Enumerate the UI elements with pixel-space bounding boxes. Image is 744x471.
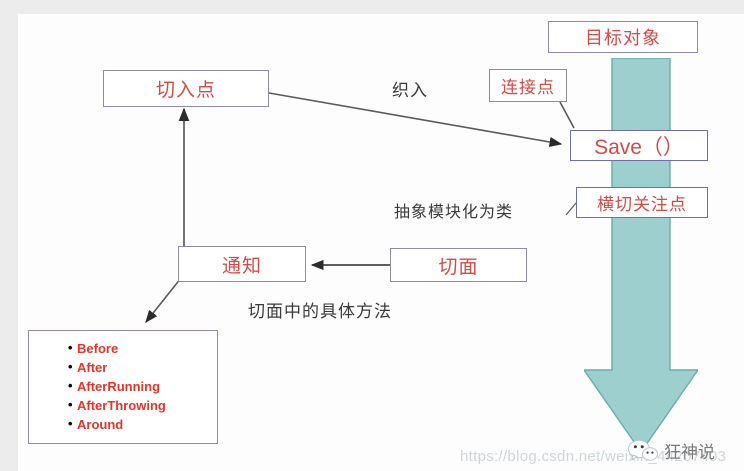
advice-types-list: Before After AfterRunning AfterThrowing … bbox=[29, 331, 217, 434]
box-advice[interactable]: 通知 bbox=[178, 246, 306, 282]
label-weaving: 织入 bbox=[392, 76, 428, 101]
watermark-brand: 狂神说 bbox=[628, 438, 715, 463]
box-crosscutting-concern[interactable]: 横切关注点 bbox=[576, 187, 708, 218]
box-join-point-label: 连接点 bbox=[501, 73, 555, 98]
diagram-canvas: 目标对象 切入点 连接点 Save（） 横切关注点 通知 切面 织入 抽象模块化… bbox=[18, 14, 744, 471]
list-item: AfterRunning bbox=[77, 377, 217, 396]
box-advice-label: 通知 bbox=[222, 251, 262, 278]
list-item: Before bbox=[77, 339, 217, 358]
box-aspect-label: 切面 bbox=[438, 252, 478, 279]
connector-joinpoint-to-save bbox=[560, 102, 574, 128]
box-advice-types[interactable]: Before After AfterRunning AfterThrowing … bbox=[28, 330, 218, 444]
box-join-point[interactable]: 连接点 bbox=[489, 69, 567, 102]
box-crosscutting-concern-label: 横切关注点 bbox=[597, 190, 687, 215]
teal-down-arrow bbox=[584, 58, 698, 454]
box-save-method-label: Save（） bbox=[594, 131, 684, 161]
box-target-object-label: 目标对象 bbox=[585, 24, 661, 50]
diagram-stage: 目标对象 切入点 连接点 Save（） 横切关注点 通知 切面 织入 抽象模块化… bbox=[0, 0, 744, 471]
label-concrete-methods: 切面中的具体方法 bbox=[248, 297, 392, 322]
list-item: After bbox=[77, 358, 217, 377]
box-pointcut-label: 切入点 bbox=[156, 75, 216, 102]
box-save-method[interactable]: Save（） bbox=[570, 130, 708, 161]
connector-advice-to-advicelist bbox=[146, 278, 181, 322]
wechat-icon bbox=[628, 439, 658, 463]
list-item: Around bbox=[77, 415, 217, 434]
watermark-brand-label: 狂神说 bbox=[664, 438, 715, 463]
connector-crosscut-stub bbox=[566, 203, 576, 215]
list-item: AfterThrowing bbox=[77, 396, 217, 415]
box-pointcut[interactable]: 切入点 bbox=[103, 70, 269, 107]
box-target-object[interactable]: 目标对象 bbox=[548, 21, 698, 53]
box-aspect[interactable]: 切面 bbox=[390, 248, 527, 282]
label-abstract-modularize: 抽象模块化为类 bbox=[394, 198, 513, 222]
